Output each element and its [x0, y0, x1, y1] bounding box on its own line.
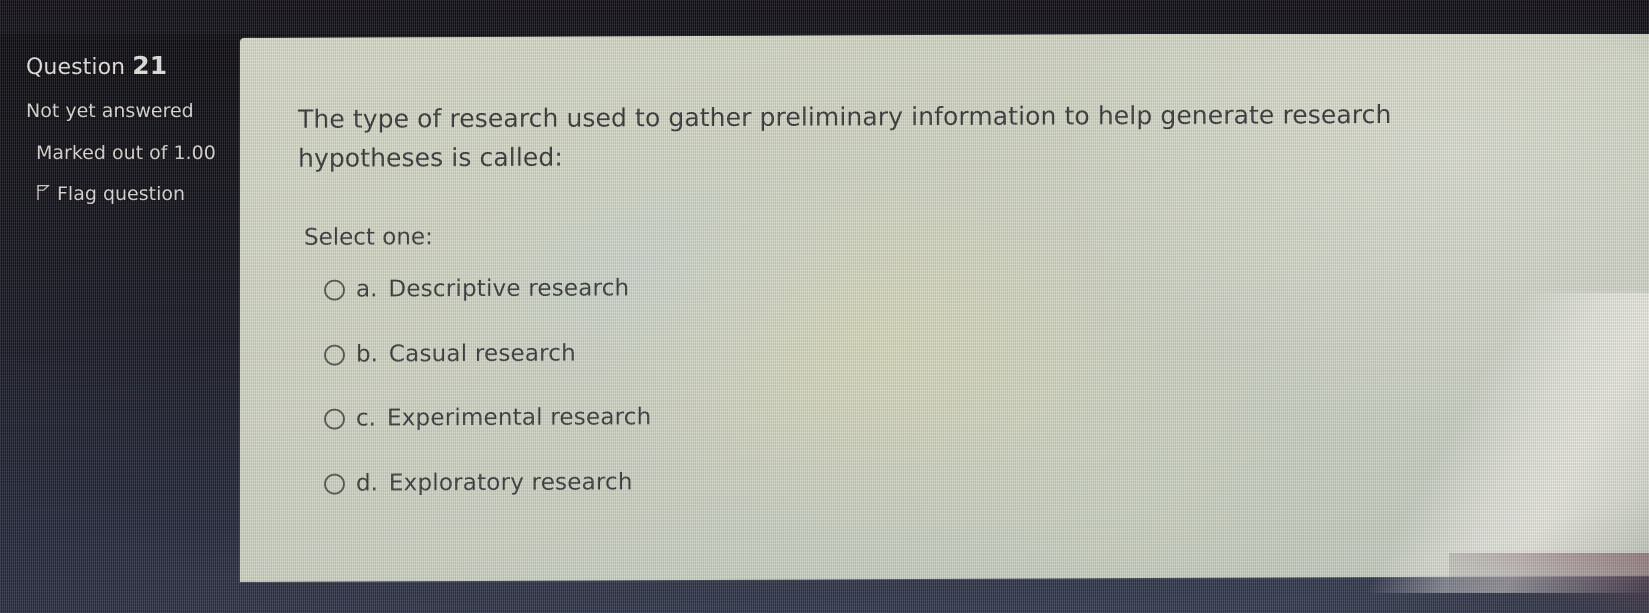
answer-option-b[interactable]: b. Casual research	[324, 334, 1649, 369]
option-label-a: Descriptive research	[388, 274, 629, 304]
question-title-label: Question	[26, 55, 125, 80]
answer-option-d[interactable]: d. Exploratory research	[324, 464, 1649, 499]
flag-icon	[36, 184, 50, 201]
answer-options-list: a. Descriptive research b. Casual resear…	[298, 270, 1649, 499]
question-info-panel: Question 21 Not yet answered Marked out …	[26, 52, 226, 207]
question-text: The type of research used to gather prel…	[298, 94, 1513, 177]
screenshot-photo: Question 21 Not yet answered Marked out …	[0, 0, 1649, 613]
question-heading: Question 21	[26, 52, 226, 81]
radio-button-b[interactable]	[324, 344, 345, 365]
option-label-b: Casual research	[389, 339, 576, 369]
question-marks: Marked out of 1.00	[36, 141, 226, 165]
option-label-c: Experimental research	[387, 404, 651, 434]
select-one-prompt: Select one:	[304, 218, 1649, 254]
answer-option-a[interactable]: a. Descriptive research	[324, 270, 1649, 305]
radio-button-d[interactable]	[324, 474, 345, 495]
option-letter-d: d.	[356, 470, 378, 499]
option-letter-a: a.	[356, 275, 377, 304]
question-card: The type of research used to gather prel…	[240, 32, 1649, 582]
option-letter-c: c.	[356, 405, 376, 434]
radio-button-a[interactable]	[324, 279, 345, 300]
option-letter-b: b.	[356, 340, 378, 369]
flag-question-control[interactable]: Flag question	[36, 182, 226, 207]
option-label-d: Exploratory research	[389, 468, 633, 498]
top-dark-band	[0, 0, 1649, 34]
answer-option-c[interactable]: c. Experimental research	[324, 399, 1649, 434]
radio-button-c[interactable]	[324, 409, 345, 430]
flag-question-label: Flag question	[57, 182, 185, 207]
question-number: 21	[132, 51, 167, 80]
question-status: Not yet answered	[26, 99, 226, 123]
